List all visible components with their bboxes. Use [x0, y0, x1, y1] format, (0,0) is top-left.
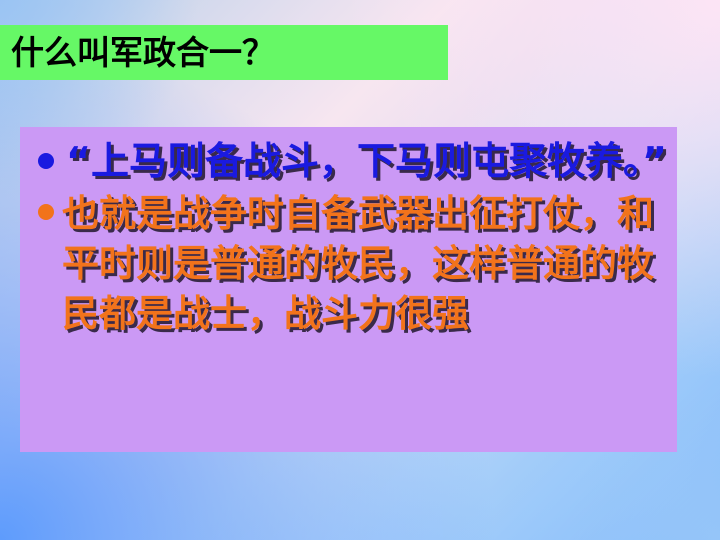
- list-item: 也就是战争时自备武器出征打仗，和平时则是普通的牧民，这样普通的牧民都是战士，战斗…: [20, 189, 677, 339]
- page-title: 什么叫军政合一？: [0, 36, 275, 69]
- list-item-label: “上马则备战斗，下马则屯聚牧养。”: [20, 135, 677, 187]
- bullet-dot-icon: [38, 153, 54, 169]
- list-item: “上马则备战斗，下马则屯聚牧养。”: [20, 135, 677, 187]
- title-banner: 什么叫军政合一？: [0, 25, 448, 80]
- list-item-label: 也就是战争时自备武器出征打仗，和平时则是普通的牧民，这样普通的牧民都是战士，战斗…: [20, 189, 677, 339]
- bullet-dot-icon: [38, 204, 54, 220]
- content-panel: “上马则备战斗，下马则屯聚牧养。” 也就是战争时自备武器出征打仗，和平时则是普通…: [20, 127, 677, 452]
- presentation-slide: 什么叫军政合一？ “上马则备战斗，下马则屯聚牧养。” 也就是战争时自备武器出征打…: [0, 0, 720, 540]
